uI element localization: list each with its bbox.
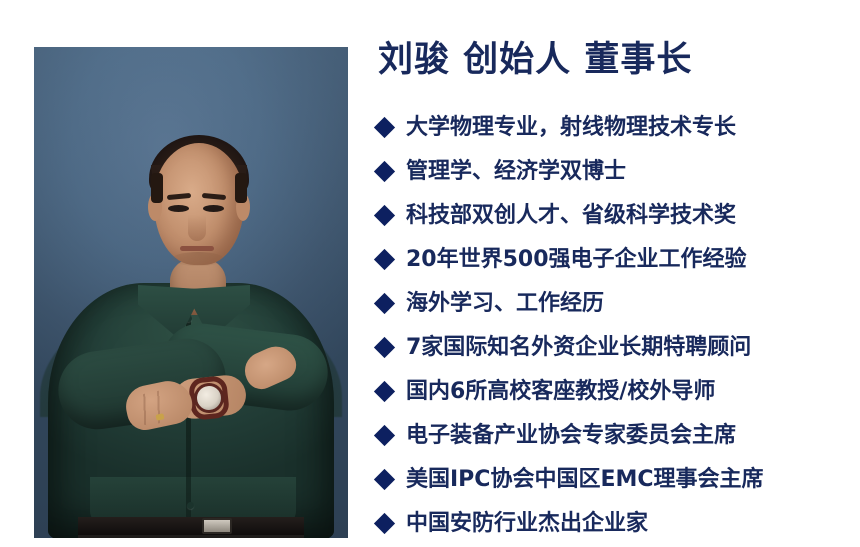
eye-right: [203, 205, 224, 212]
belt-buckle: [202, 518, 232, 534]
page-title: 刘骏 创始人 董事长: [378, 38, 692, 82]
list-item-label: 美国IPC协会中国区EMC理事会主席: [406, 467, 764, 493]
diamond-bullet-icon: [374, 337, 395, 358]
list-item: 海外学习、工作经历: [376, 282, 850, 326]
sideburn-right: [235, 173, 247, 203]
credentials-list: 大学物理专业，射线物理技术专长管理学、经济学双博士科技部双创人才、省级科学技术奖…: [376, 106, 850, 546]
list-item-label: 中国安防行业杰出企业家: [406, 511, 648, 537]
list-item-label: 20年世界500强电子企业工作经验: [406, 247, 747, 273]
profile-slide: 刘骏 创始人 董事长 大学物理专业，射线物理技术专长管理学、经济学双博士科技部双…: [0, 0, 860, 547]
list-item-label: 大学物理专业，射线物理技术专长: [406, 115, 736, 141]
list-item-label: 管理学、经济学双博士: [406, 159, 626, 185]
list-item-label: 国内6所高校客座教授/校外导师: [406, 379, 715, 405]
shirt-button: [187, 502, 194, 509]
sideburn-left: [151, 173, 163, 203]
list-item: 电子装备产业协会专家委员会主席: [376, 414, 850, 458]
diamond-bullet-icon: [374, 469, 395, 490]
diamond-bullet-icon: [374, 293, 395, 314]
list-item: 大学物理专业，射线物理技术专长: [376, 106, 850, 150]
list-item: 7家国际知名外资企业长期特聘顾问: [376, 326, 850, 370]
list-item: 中国安防行业杰出企业家: [376, 502, 850, 546]
diamond-bullet-icon: [374, 161, 395, 182]
list-item-label: 电子装备产业协会专家委员会主席: [406, 423, 736, 449]
list-item: 国内6所高校客座教授/校外导师: [376, 370, 850, 414]
diamond-bullet-icon: [374, 425, 395, 446]
nose: [188, 215, 206, 241]
list-item-label: 科技部双创人才、省级科学技术奖: [406, 203, 736, 229]
list-item-label: 7家国际知名外资企业长期特聘顾问: [406, 335, 751, 361]
list-item: 美国IPC协会中国区EMC理事会主席: [376, 458, 850, 502]
diamond-bullet-icon: [374, 513, 395, 534]
mouth: [180, 246, 214, 251]
eye-left: [168, 205, 189, 212]
diamond-bullet-icon: [374, 249, 395, 270]
list-item: 管理学、经济学双博士: [376, 150, 850, 194]
diamond-bullet-icon: [374, 381, 395, 402]
text-column: 刘骏 创始人 董事长 大学物理专业，射线物理技术专长管理学、经济学双博士科技部双…: [376, 0, 850, 547]
list-item: 20年世界500强电子企业工作经验: [376, 238, 850, 282]
list-item-label: 海外学习、工作经历: [406, 291, 604, 317]
list-item: 科技部双创人才、省级科学技术奖: [376, 194, 850, 238]
person-figure: [34, 47, 348, 538]
belt: [78, 517, 304, 535]
chin-shadow: [172, 252, 224, 266]
diamond-bullet-icon: [374, 117, 395, 138]
portrait-photo: [34, 47, 348, 538]
diamond-bullet-icon: [374, 205, 395, 226]
